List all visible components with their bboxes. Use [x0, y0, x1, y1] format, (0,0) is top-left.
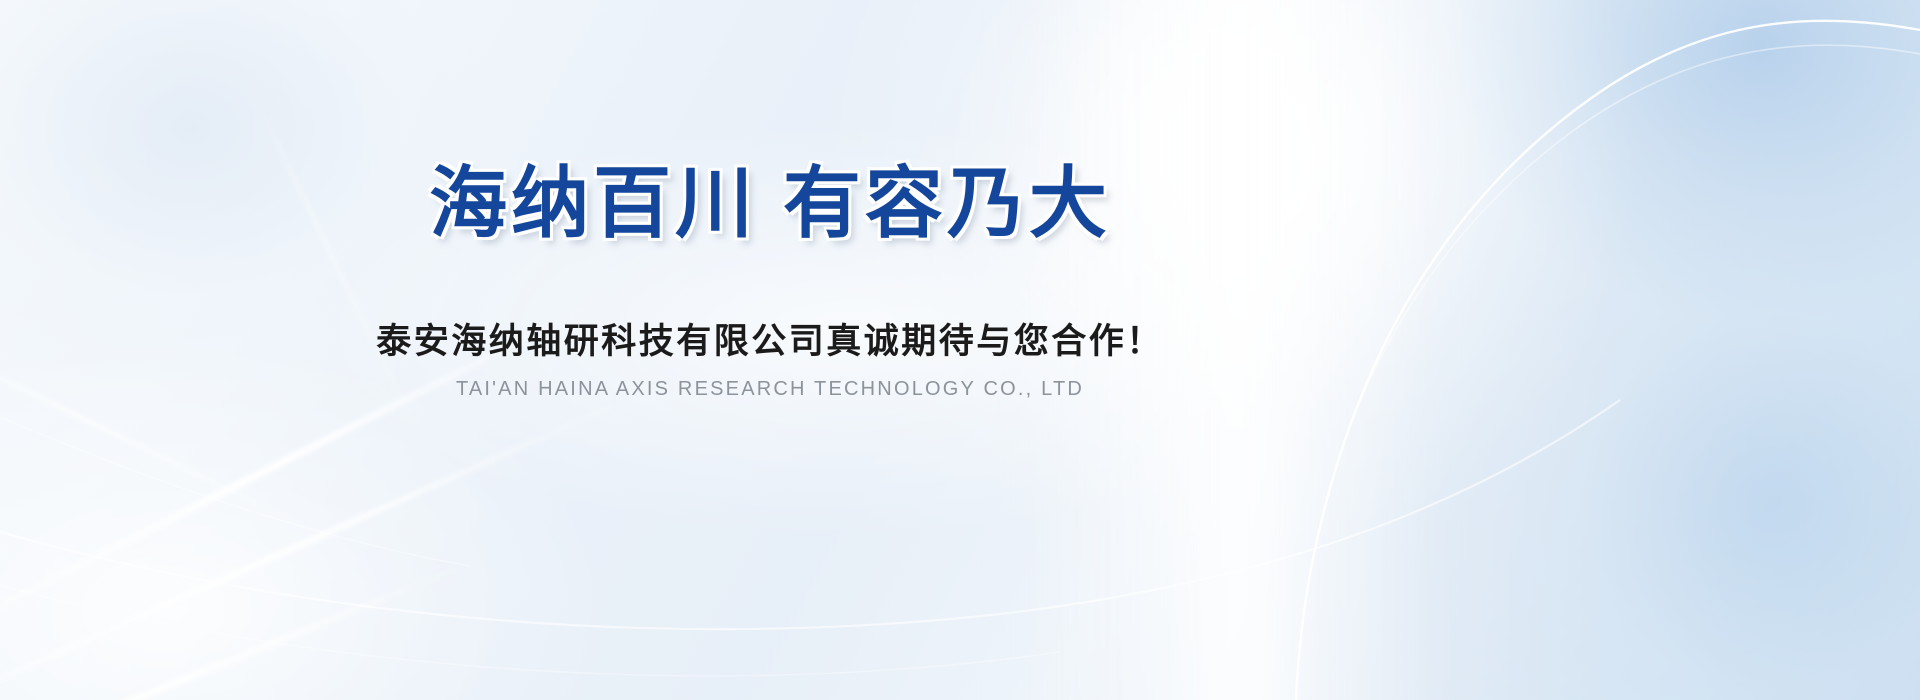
banner-content: 海纳百川 有容乃大 泰安海纳轴研科技有限公司真诚期待与您合作！ TAI'AN H… [0, 0, 1540, 700]
banner-subtitle-english: TAI'AN HAINA AXIS RESEARCH TECHNOLOGY CO… [456, 378, 1084, 401]
banner-subtitle-chinese: 泰安海纳轴研科技有限公司真诚期待与您合作！ [376, 313, 1164, 364]
hero-banner: 海纳百川 有容乃大 泰安海纳轴研科技有限公司真诚期待与您合作！ TAI'AN H… [0, 0, 1920, 700]
banner-headline: 海纳百川 有容乃大 [429, 160, 1111, 247]
